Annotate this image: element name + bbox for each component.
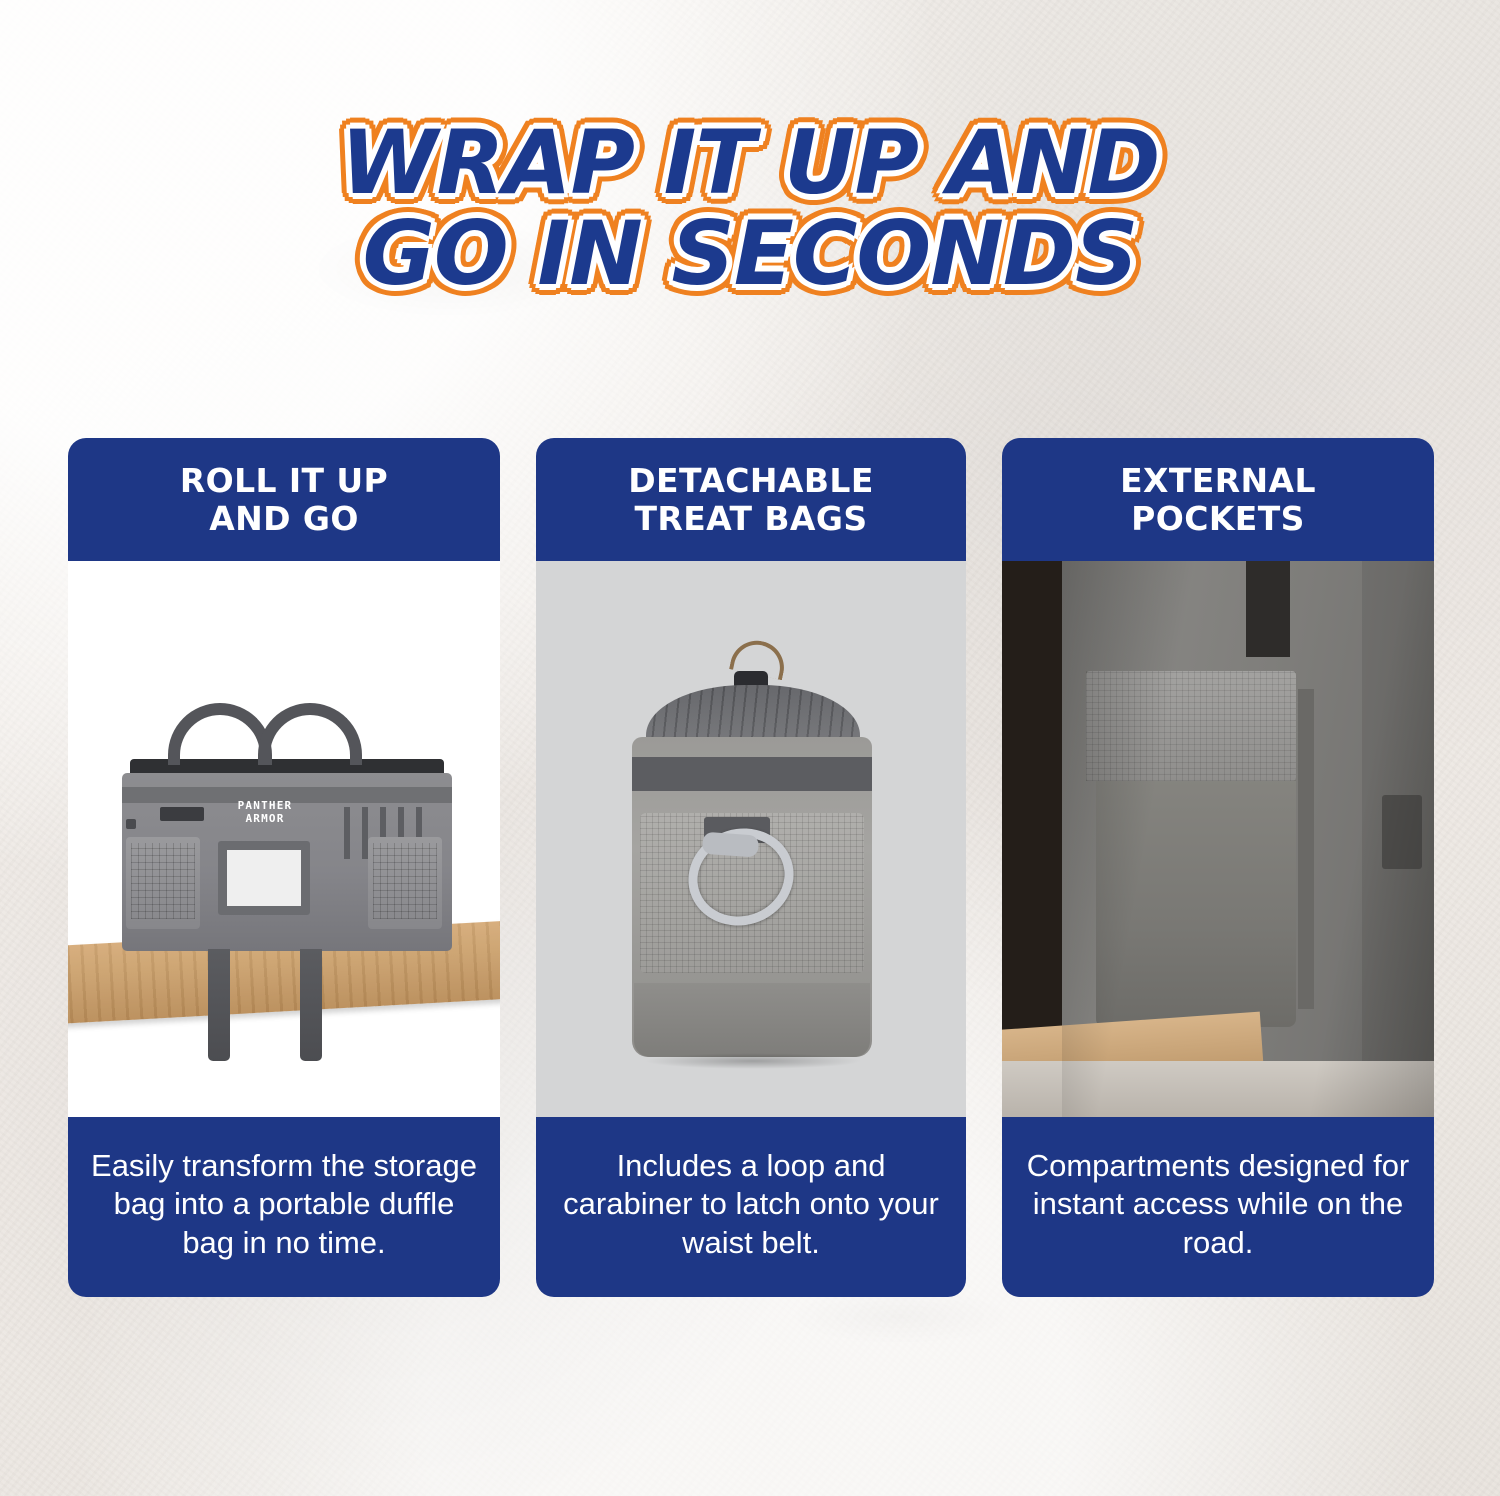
card-title: EXTERNAL POCKETS	[1002, 438, 1434, 561]
feature-card-roll-it-up: ROLL IT UP AND GO PANTHER ARMOR Easily t…	[68, 438, 500, 1297]
card-caption: Easily transform the storage bag into a …	[68, 1117, 500, 1297]
card-title-line-1: EXTERNAL	[1016, 462, 1420, 500]
velcro-patch	[160, 807, 204, 821]
hanging-strap-right	[300, 949, 322, 1061]
label-window	[218, 841, 310, 915]
brand-label: PANTHER ARMOR	[216, 799, 314, 827]
card-caption: Includes a loop and carabiner to latch o…	[536, 1117, 966, 1297]
brand-label-line-2: ARMOR	[216, 812, 314, 826]
carry-handle-left	[168, 703, 272, 765]
headline-line-2: GO IN SECONDS	[0, 209, 1500, 300]
card-title-line-1: ROLL IT UP	[82, 462, 486, 500]
card-title-line-2: TREAT BAGS	[550, 500, 952, 538]
card-title-line-2: AND GO	[82, 500, 486, 538]
feature-card-detachable-treat-bags: DETACHABLE TREAT BAGS Includes a loop an…	[536, 438, 966, 1297]
feature-cards: ROLL IT UP AND GO PANTHER ARMOR Easily t…	[68, 438, 1438, 1297]
hanging-strap-left	[208, 949, 230, 1061]
drop-shadow	[644, 1053, 862, 1069]
feature-card-external-pockets: EXTERNAL POCKETS Compartments designed f…	[1002, 438, 1434, 1297]
card-title: DETACHABLE TREAT BAGS	[536, 438, 966, 561]
side-tab	[126, 819, 136, 829]
card-caption: Compartments designed for instant access…	[1002, 1117, 1434, 1297]
pouch-collar	[632, 757, 872, 791]
card-title-line-2: POCKETS	[1016, 500, 1420, 538]
card-title: ROLL IT UP AND GO	[68, 438, 500, 561]
pouch-bottom-panel	[634, 983, 870, 1057]
mesh-pocket-left	[126, 837, 200, 929]
carry-handle-right	[258, 703, 362, 765]
mesh-pocket-right	[368, 837, 442, 929]
photo-detachable-treat-pouch-with-carabiner	[536, 561, 966, 1117]
headline: WRAP IT UP AND GO IN SECONDS	[0, 118, 1500, 299]
card-title-line-1: DETACHABLE	[550, 462, 952, 500]
headline-line-1: WRAP IT UP AND	[0, 118, 1500, 209]
brand-label-line-1: PANTHER	[216, 799, 314, 813]
photo-external-pocket-closeup	[1002, 561, 1434, 1117]
photo-vignette	[1062, 561, 1434, 1117]
photo-grey-storage-tote-on-wood-plank: PANTHER ARMOR	[68, 561, 500, 1117]
